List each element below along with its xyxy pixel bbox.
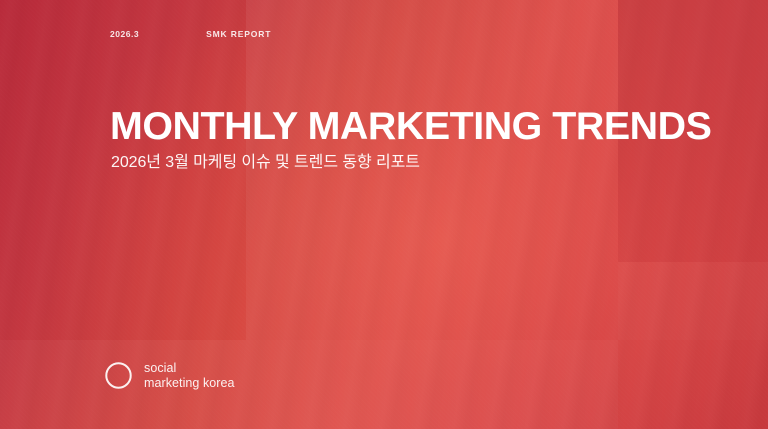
report-series-label: SMK REPORT (206, 29, 271, 39)
logo-line-marketing-korea: marketing korea (144, 376, 235, 390)
page-title: MONTHLY MARKETING TRENDS (110, 107, 711, 146)
logo-wordmark: social marketing korea (144, 361, 235, 390)
cover-meta-row: 2026.3 SMK REPORT (110, 29, 271, 39)
logo-line-social: social (144, 361, 235, 375)
cover-content: 2026.3 SMK REPORT MONTHLY MARKETING TREN… (0, 0, 768, 429)
page-subtitle: 2026년 3월 마케팅 이슈 및 트렌드 동향 리포트 (111, 153, 420, 173)
circle-outline-icon (104, 361, 133, 390)
report-cover-slide: 2026.3 SMK REPORT MONTHLY MARKETING TREN… (0, 0, 768, 429)
issue-date: 2026.3 (110, 29, 139, 39)
brand-logo: social marketing korea (104, 361, 235, 390)
